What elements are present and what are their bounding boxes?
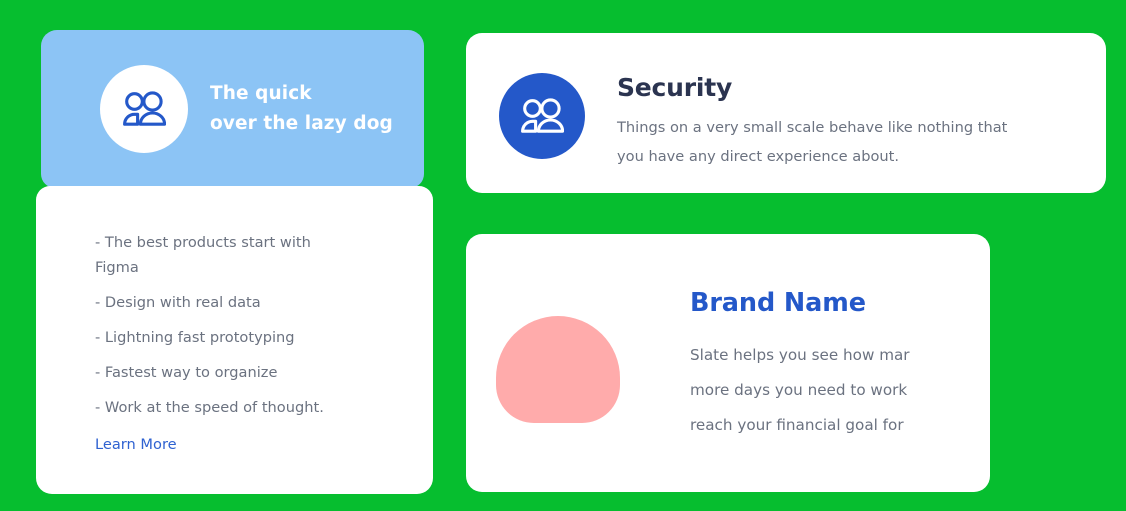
left-card-header: The quick over the lazy dog [41,30,424,188]
feature-list: - The best products start with Figma - D… [95,230,433,420]
people-icon [520,98,564,134]
brand-description-line-3: reach your financial goal for [690,408,910,443]
list-item: - Fastest way to organize [95,360,355,385]
list-item: - Work at the speed of thought. [95,395,355,420]
list-item: - The best products start with Figma [95,230,355,280]
brand-description-line-1: Slate helps you see how mar [690,338,910,373]
pink-blob-shape [496,316,620,423]
header-title-line-2: over the lazy dog [210,109,393,139]
people-icon [122,91,166,127]
security-card: Security Things on a very small scale be… [466,33,1106,193]
header-title: The quick over the lazy dog [210,79,393,138]
brand-description: Slate helps you see how mar more days yo… [690,338,910,443]
brand-description-line-2: more days you need to work [690,373,910,408]
security-title: Security [617,71,1037,105]
list-item: - Lightning fast prototyping [95,325,355,350]
security-icon-badge [499,73,585,159]
feature-card-left: The quick over the lazy dog - The best p… [36,30,433,494]
list-item: - Design with real data [95,290,355,315]
page-canvas: The quick over the lazy dog - The best p… [0,0,1126,511]
header-title-line-1: The quick [210,79,393,109]
brand-title: Brand Name [690,286,910,320]
left-card-body: - The best products start with Figma - D… [36,186,433,494]
brand-text-block: Brand Name Slate helps you see how mar m… [690,286,910,443]
header-icon-badge [100,65,188,153]
security-description: Things on a very small scale behave like… [617,113,1037,171]
brand-card: Brand Name Slate helps you see how mar m… [466,234,990,492]
learn-more-link[interactable]: Learn More [95,434,177,456]
security-text-block: Security Things on a very small scale be… [617,69,1037,171]
